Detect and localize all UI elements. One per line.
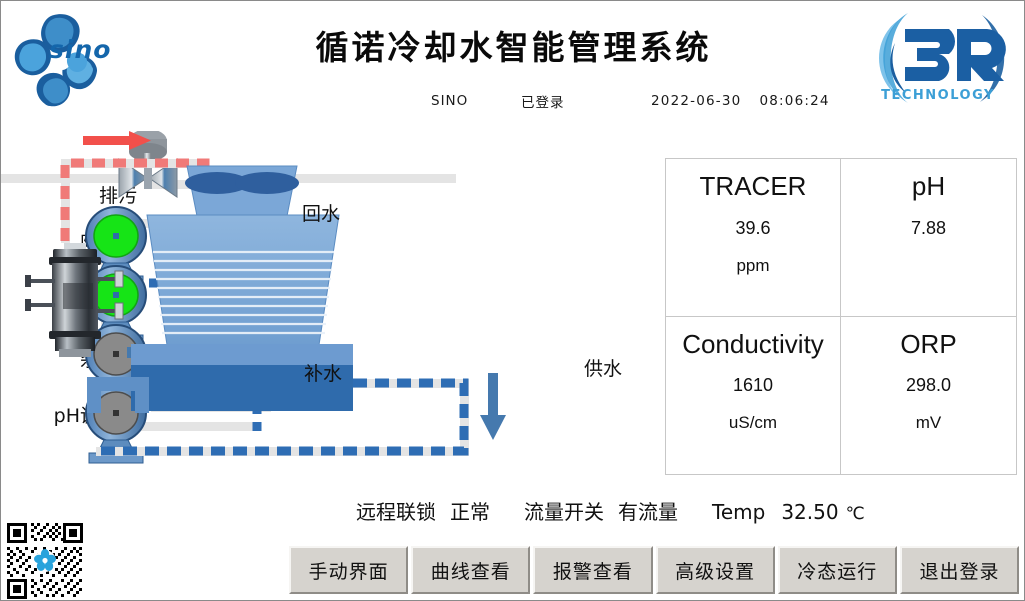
ph-name: pH — [912, 172, 945, 201]
qr-code-icon — [5, 521, 85, 601]
conductivity-value: 1610 — [733, 375, 773, 396]
process-flow-diagram — [1, 131, 661, 481]
orp-unit: mV — [916, 413, 942, 433]
svg-text:TECHNOLOGY: TECHNOLOGY — [881, 88, 995, 103]
3r-technology-logo-icon: TECHNOLOGY — [862, 3, 1012, 111]
supply-water-arrow-icon — [480, 373, 506, 440]
hmi-screen: sino 循诺冷却水智能管理系统 SINO 已登录 2022-06-30 08:… — [0, 0, 1025, 601]
logout-button[interactable]: 退出登录 — [900, 546, 1019, 594]
current-user: SINO — [431, 93, 521, 109]
cold-start-button[interactable]: 冷态运行 — [778, 546, 897, 594]
trend-view-button[interactable]: 曲线查看 — [411, 546, 530, 594]
label-makeup-water: 补水 — [304, 359, 342, 386]
login-status: 已登录 — [521, 91, 651, 111]
bottom-button-bar: 手动界面 曲线查看 报警查看 高级设置 冷态运行 退出登录 — [289, 546, 1019, 594]
label-return-water: 回水 — [302, 199, 340, 226]
label-supply-water: 供水 — [584, 354, 622, 381]
measurement-card-conductivity[interactable]: Conductivity 1610 uS/cm — [666, 317, 841, 475]
tracer-name: TRACER — [700, 172, 807, 201]
remote-interlock-value: 正常 — [450, 496, 490, 525]
temp-value: 32.50 — [781, 500, 838, 524]
tracer-value: 39.6 — [735, 218, 770, 239]
manual-interface-button[interactable]: 手动界面 — [289, 546, 408, 594]
system-date: 2022-06-30 — [651, 93, 741, 109]
orp-value: 298.0 — [906, 375, 951, 396]
header-meta: SINO 已登录 2022-06-30 08:06:24 — [431, 91, 830, 111]
measurement-panel: TRACER 39.6 ppm pH 7.88 Conductivity 161… — [665, 158, 1017, 475]
measurement-card-ph[interactable]: pH 7.88 — [841, 159, 1016, 317]
flow-switch-label: 流量开关 — [524, 496, 604, 525]
system-time: 08:06:24 — [759, 93, 829, 109]
ph-value: 7.88 — [911, 218, 946, 239]
measurement-card-tracer[interactable]: TRACER 39.6 ppm — [666, 159, 841, 317]
conductivity-name: Conductivity — [682, 330, 824, 359]
status-bar: 远程联锁 正常 流量开关 有流量 Temp 32.50 ℃ — [356, 496, 865, 525]
temp-unit: ℃ — [846, 504, 865, 524]
alarm-view-button[interactable]: 报警查看 — [533, 546, 652, 594]
tracer-unit: ppm — [736, 256, 769, 276]
temp-label: Temp — [712, 500, 765, 524]
flow-switch-value: 有流量 — [618, 496, 678, 525]
measurement-card-orp[interactable]: ORP 298.0 mV — [841, 317, 1016, 475]
orp-name: ORP — [900, 330, 956, 359]
advanced-settings-button[interactable]: 高级设置 — [656, 546, 775, 594]
conductivity-unit: uS/cm — [729, 413, 777, 433]
remote-interlock-label: 远程联锁 — [356, 496, 436, 525]
